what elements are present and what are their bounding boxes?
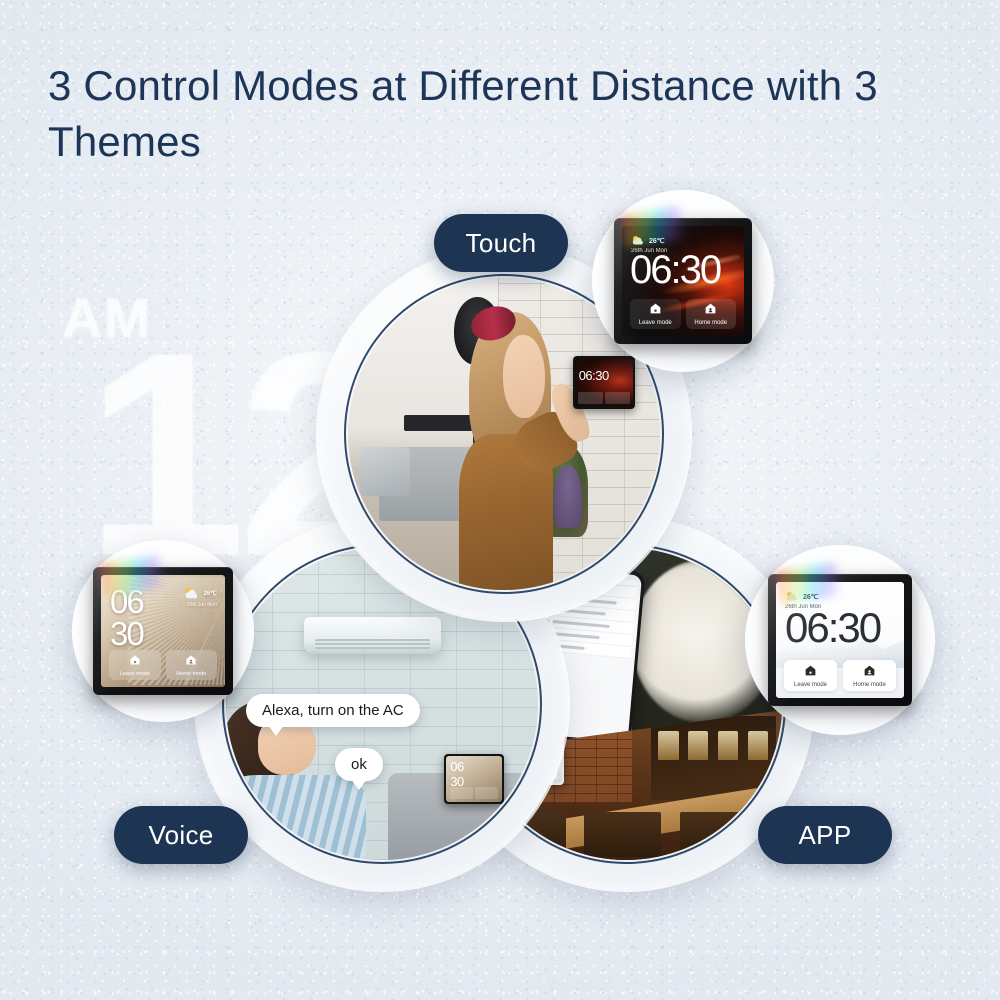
home-mode-button[interactable]: Home mode (686, 299, 737, 329)
house-leave-icon (804, 664, 817, 677)
callout-light-theme: 26℃ 26th Jun Mon 06:30 Leave mode (745, 545, 935, 735)
smart-panel-dark[interactable]: 26℃ 26th Jun Mon 06:30 Leave mode (614, 218, 752, 344)
inline-panel-screen: 06 30 (446, 756, 501, 802)
house-home-icon (185, 654, 197, 666)
sun-cloud-icon (183, 587, 199, 600)
panel-screen-light: 26℃ 26th Jun Mon 06:30 Leave mode (776, 582, 904, 698)
temperature: 26℃ (204, 590, 217, 597)
inline-leave-mode-button[interactable] (450, 787, 473, 799)
mode-button-row: Leave mode Home mode (630, 299, 736, 329)
inline-leave-mode-button[interactable] (578, 392, 603, 404)
woman-pointing (451, 312, 582, 590)
cushion (360, 447, 410, 497)
inline-panel-screen: 06:30 (575, 358, 633, 407)
inline-home-mode-button[interactable] (605, 392, 630, 404)
sun-cloud-icon (631, 235, 644, 246)
label-pill-app[interactable]: APP (758, 806, 892, 864)
inline-panel-buttons (450, 787, 499, 799)
inline-wall-panel-touch[interactable]: 06:30 (573, 356, 635, 409)
callout-beige-theme: 26℃ 26th Jun Mon 06 30 Leave mode (72, 540, 254, 722)
home-mode-label: Home mode (176, 671, 206, 677)
home-mode-label: Home mode (853, 682, 886, 688)
panel-screen-dark: 26℃ 26th Jun Mon 06:30 Leave mode (622, 226, 744, 336)
clock-display: 06:30 (630, 252, 720, 289)
house-leave-icon (649, 302, 662, 315)
label-pill-voice[interactable]: Voice (114, 806, 248, 864)
poster-canvas: AM 12 3 Control Modes at Different Dista… (0, 0, 1000, 1000)
inline-panel-buttons (578, 392, 629, 404)
leave-mode-label: Leave mode (120, 671, 150, 677)
house-leave-icon (129, 654, 141, 666)
house-home-icon (704, 302, 717, 315)
face (503, 335, 545, 418)
inline-wall-panel-voice[interactable]: 06 30 (444, 754, 503, 804)
leave-mode-button[interactable]: Leave mode (109, 650, 161, 680)
smart-panel-light[interactable]: 26℃ 26th Jun Mon 06:30 Leave mode (768, 574, 912, 706)
inline-panel-clock: 06:30 (579, 369, 609, 382)
clock-hour: 06 (110, 587, 143, 617)
striped-shirt (226, 775, 366, 860)
house-home-icon (863, 664, 876, 677)
panel-screen-beige: 26℃ 26th Jun Mon 06 30 Leave mode (101, 575, 225, 687)
leave-mode-button[interactable]: Leave mode (784, 660, 837, 691)
leave-mode-button[interactable]: Leave mode (630, 299, 681, 329)
clock-minute: 30 (110, 619, 143, 649)
sun-cloud-icon (785, 591, 798, 602)
page-title: 3 Control Modes at Different Distance wi… (48, 58, 968, 171)
callout-dark-theme: 26℃ 26th Jun Mon 06:30 Leave mode (592, 190, 774, 372)
inline-panel-clock-hour: 06 (450, 760, 463, 773)
leave-mode-label: Leave mode (639, 320, 672, 326)
leave-mode-label: Leave mode (794, 682, 827, 688)
home-mode-button[interactable]: Home mode (843, 660, 896, 691)
inline-home-mode-button[interactable] (475, 787, 498, 799)
temperature: 26℃ (649, 237, 665, 245)
mode-button-row: Leave mode Home mode (109, 650, 217, 680)
date-text: 26th Jun Mon (187, 602, 217, 608)
bottles (658, 731, 768, 760)
mode-button-row: Leave mode Home mode (784, 660, 896, 691)
air-conditioner (304, 617, 441, 654)
home-mode-button[interactable]: Home mode (166, 650, 218, 680)
temperature: 26℃ (803, 593, 819, 601)
clock-display: 06:30 (785, 609, 880, 648)
voice-reply-bubble: ok (335, 748, 383, 781)
voice-command-bubble: Alexa, turn on the AC (246, 694, 420, 727)
label-pill-touch[interactable]: Touch (434, 214, 568, 272)
weather-block: 26℃ 26th Jun Mon (183, 587, 217, 608)
smart-panel-beige[interactable]: 26℃ 26th Jun Mon 06 30 Leave mode (93, 567, 233, 695)
home-mode-label: Home mode (694, 320, 727, 326)
